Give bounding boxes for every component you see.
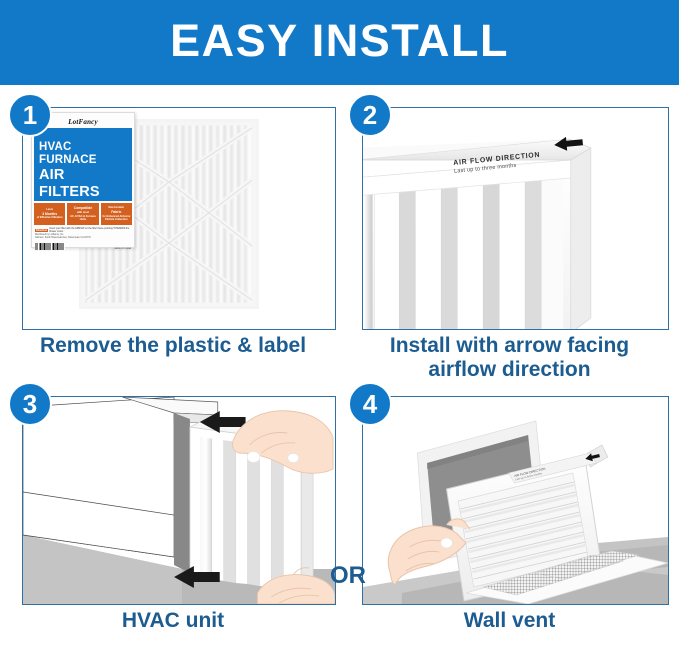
label-fine-print: Direction Insert your filter with the AR… (34, 227, 132, 250)
step-4-artwork: AIR FLOW DIRECTION Last up to three mont… (363, 397, 668, 604)
direction-tag: Direction (35, 229, 48, 232)
label-feature-row: Lasts 3 Months of Effective Filtration C… (34, 203, 132, 225)
step-3-number: 3 (23, 391, 37, 417)
feature-3-sub: for Enhanced Airborne Particle Collectio… (102, 215, 131, 222)
step-2-cell: AIR FLOW DIRECTION Last up to three mont… (348, 93, 671, 374)
feature-badge-2: Compatible with most AC, HVAC & Furnace … (67, 203, 98, 225)
step-4-panel: AIR FLOW DIRECTION Last up to three mont… (362, 396, 669, 605)
direction-text: Insert your filter with the ARROW on the… (49, 227, 131, 233)
page-title: EASY INSTALL (170, 18, 509, 67)
made-in-text: MADE IN CHINA (114, 248, 131, 250)
step-4-caption: Wall vent (348, 609, 671, 633)
easy-install-infographic: EASY INSTALL (0, 0, 679, 653)
step-2-artwork: AIR FLOW DIRECTION Last up to three mont… (363, 108, 668, 329)
step-2-panel: AIR FLOW DIRECTION Last up to three mont… (362, 107, 669, 330)
hvac-unit-illustration: AIR FLOW DIRECTION Last up to three mont… (23, 397, 335, 604)
label-headline: HVAC FURNACE AIR FILTERS (34, 128, 132, 201)
step-1-artwork: LotFancy HVAC FURNACE AIR FILTERS Lasts … (23, 108, 335, 329)
step-3-badge: 3 (8, 382, 52, 426)
barcode-row: MADE IN CHINA (35, 243, 131, 250)
step-3-panel: AIR FLOW DIRECTION Last up to three mont… (22, 396, 336, 605)
wall-vent-illustration: AIR FLOW DIRECTION Last up to three mont… (363, 397, 668, 604)
step-4-badge: 4 (348, 382, 392, 426)
step-3-cell: AIR FLOW DIRECTION Last up to three mont… (8, 382, 338, 645)
feature-1-sub: of Effective Filtration (37, 216, 63, 220)
headline-line-2: AIR FILTERS (39, 167, 127, 200)
step-2-number: 2 (363, 102, 377, 128)
step-1-panel: LotFancy HVAC FURNACE AIR FILTERS Lasts … (22, 107, 336, 330)
direction-row: Direction Insert your filter with the AR… (35, 227, 131, 233)
product-label: LotFancy HVAC FURNACE AIR FILTERS Lasts … (31, 112, 135, 248)
step-2-badge: 2 (348, 93, 392, 137)
or-separator-label: OR (330, 562, 354, 590)
step-2-caption: Install with arrow facing airflow direct… (348, 334, 671, 381)
step-1-number: 1 (23, 102, 37, 128)
steps-grid: LotFancy HVAC FURNACE AIR FILTERS Lasts … (0, 85, 679, 653)
step-2-caption-line-2: airflow direction (348, 358, 671, 382)
step-3-caption: HVAC unit (8, 609, 338, 633)
pleated-filter-illustration: AIR FLOW DIRECTION Last up to three mont… (363, 108, 668, 329)
step-4-cell: AIR FLOW DIRECTION Last up to three mont… (348, 382, 671, 645)
step-4-number: 4 (363, 391, 377, 417)
company-address: Address: South Rosemead Ave, Rosemead, C… (35, 237, 131, 240)
step-3-artwork: AIR FLOW DIRECTION Last up to three mont… (23, 397, 335, 604)
step-1-caption: Remove the plastic & label (8, 334, 338, 358)
feature-2-sub: AC, HVAC & Furnace Units (68, 215, 97, 222)
feature-badge-1: Lasts 3 Months of Effective Filtration (34, 203, 65, 225)
step-1-badge: 1 (8, 93, 52, 137)
barcode-icon (35, 243, 65, 250)
step-2-caption-line-1: Install with arrow facing (348, 334, 671, 358)
step-1-cell: LotFancy HVAC FURNACE AIR FILTERS Lasts … (8, 93, 338, 374)
header-band: EASY INSTALL (0, 0, 679, 85)
feature-badge-3: Electrostatic Fabric for Enhanced Airbor… (101, 203, 132, 225)
headline-line-1: HVAC FURNACE (39, 141, 127, 167)
